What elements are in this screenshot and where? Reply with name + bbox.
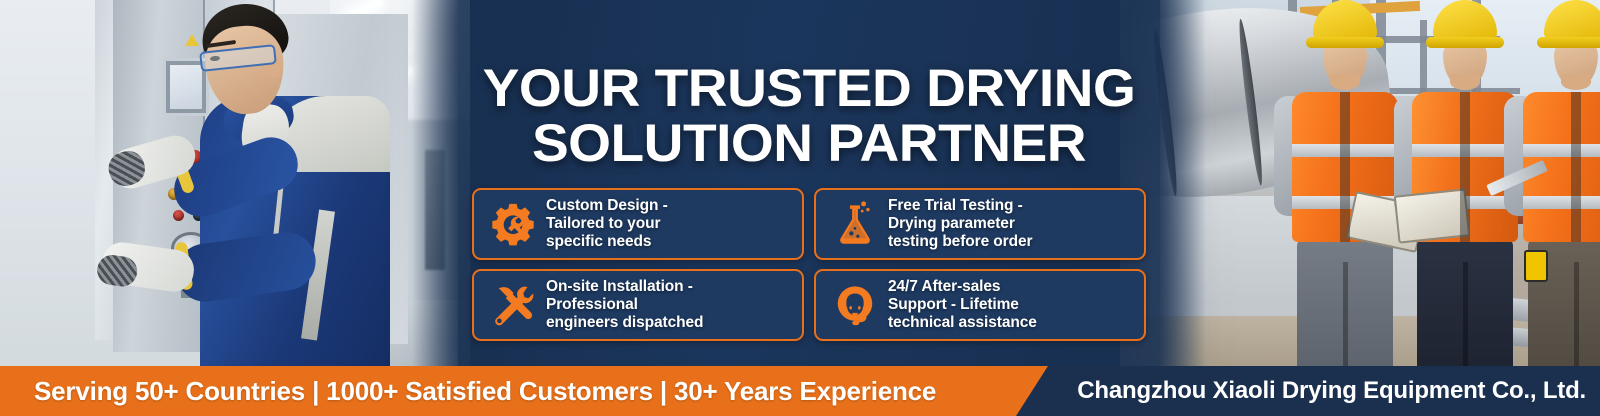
banner-headline: YOUR TRUSTED DRYING SOLUTION PARTNER (444, 62, 1174, 171)
feature-line-3: technical assistance (888, 314, 1037, 332)
flask-icon (824, 193, 886, 255)
feature-card-custom-design[interactable]: Custom Design - Tailored to your specifi… (472, 188, 804, 260)
feature-line-1: 24/7 After-sales (888, 278, 1037, 296)
feature-line-2: Professional (546, 296, 703, 314)
engineer-trousers (1297, 238, 1393, 372)
tool-pouch (1524, 250, 1548, 282)
engineer-chin (1450, 74, 1480, 90)
feature-line-3: specific needs (546, 233, 668, 251)
vest-opening (1571, 92, 1581, 242)
company-name-text: Changzhou Xiaoli Drying Equipment Co., L… (1077, 366, 1586, 416)
feature-line-2: Tailored to your (546, 215, 668, 233)
headline-line-1: YOUR TRUSTED DRYING (483, 59, 1136, 118)
feature-line-2: Support - Lifetime (888, 296, 1037, 314)
vest-opening (1340, 92, 1350, 242)
feature-card-onsite-installation[interactable]: On-site Installation - Professional engi… (472, 269, 804, 341)
hard-hat (1313, 0, 1377, 46)
bottom-bar: Serving 50+ Countries | 1000+ Satisfied … (0, 366, 1600, 416)
feature-line-1: On-site Installation - (546, 278, 703, 296)
feature-card-free-trial-testing[interactable]: Free Trial Testing - Drying parameter te… (814, 188, 1146, 260)
headline-line-2: SOLUTION PARTNER (444, 117, 1174, 172)
promotional-banner: YOUR TRUSTED DRYING SOLUTION PARTNER Cus… (0, 0, 1600, 416)
feature-card-text: 24/7 After-sales Support - Lifetime tech… (886, 278, 1037, 332)
engineer-figure (1290, 0, 1400, 372)
feature-card-after-sales-support[interactable]: 24/7 After-sales Support - Lifetime tech… (814, 269, 1146, 341)
feature-cards: Custom Design - Tailored to your specifi… (472, 188, 1146, 341)
engineer-trousers (1417, 238, 1513, 372)
feature-card-text: Custom Design - Tailored to your specifi… (544, 197, 668, 251)
engineer-figure (1520, 0, 1600, 372)
feature-line-2: Drying parameter (888, 215, 1032, 233)
technician-figure (180, 0, 400, 372)
drum-band (1236, 18, 1265, 186)
hard-hat (1433, 0, 1497, 46)
clipboard (1394, 188, 1471, 243)
headset-support-icon (824, 274, 886, 336)
feature-line-3: testing before order (888, 233, 1032, 251)
hammer-wrench-icon (482, 274, 544, 336)
feature-line-3: engineers dispatched (546, 314, 703, 332)
feature-card-text: On-site Installation - Professional engi… (544, 278, 703, 332)
feature-card-text: Free Trial Testing - Drying parameter te… (886, 197, 1032, 251)
vest-opening (1460, 92, 1470, 242)
gear-wrench-icon (482, 193, 544, 255)
feature-line-1: Custom Design - (546, 197, 668, 215)
hard-hat (1544, 0, 1600, 46)
photo-technician-control-panel (0, 0, 470, 372)
engineer-chin (1330, 74, 1360, 90)
engineer-chin (1561, 74, 1591, 90)
feature-line-1: Free Trial Testing - (888, 197, 1032, 215)
company-stats-text: Serving 50+ Countries | 1000+ Satisfied … (34, 366, 936, 416)
center-content-panel: YOUR TRUSTED DRYING SOLUTION PARTNER Cus… (458, 0, 1160, 372)
